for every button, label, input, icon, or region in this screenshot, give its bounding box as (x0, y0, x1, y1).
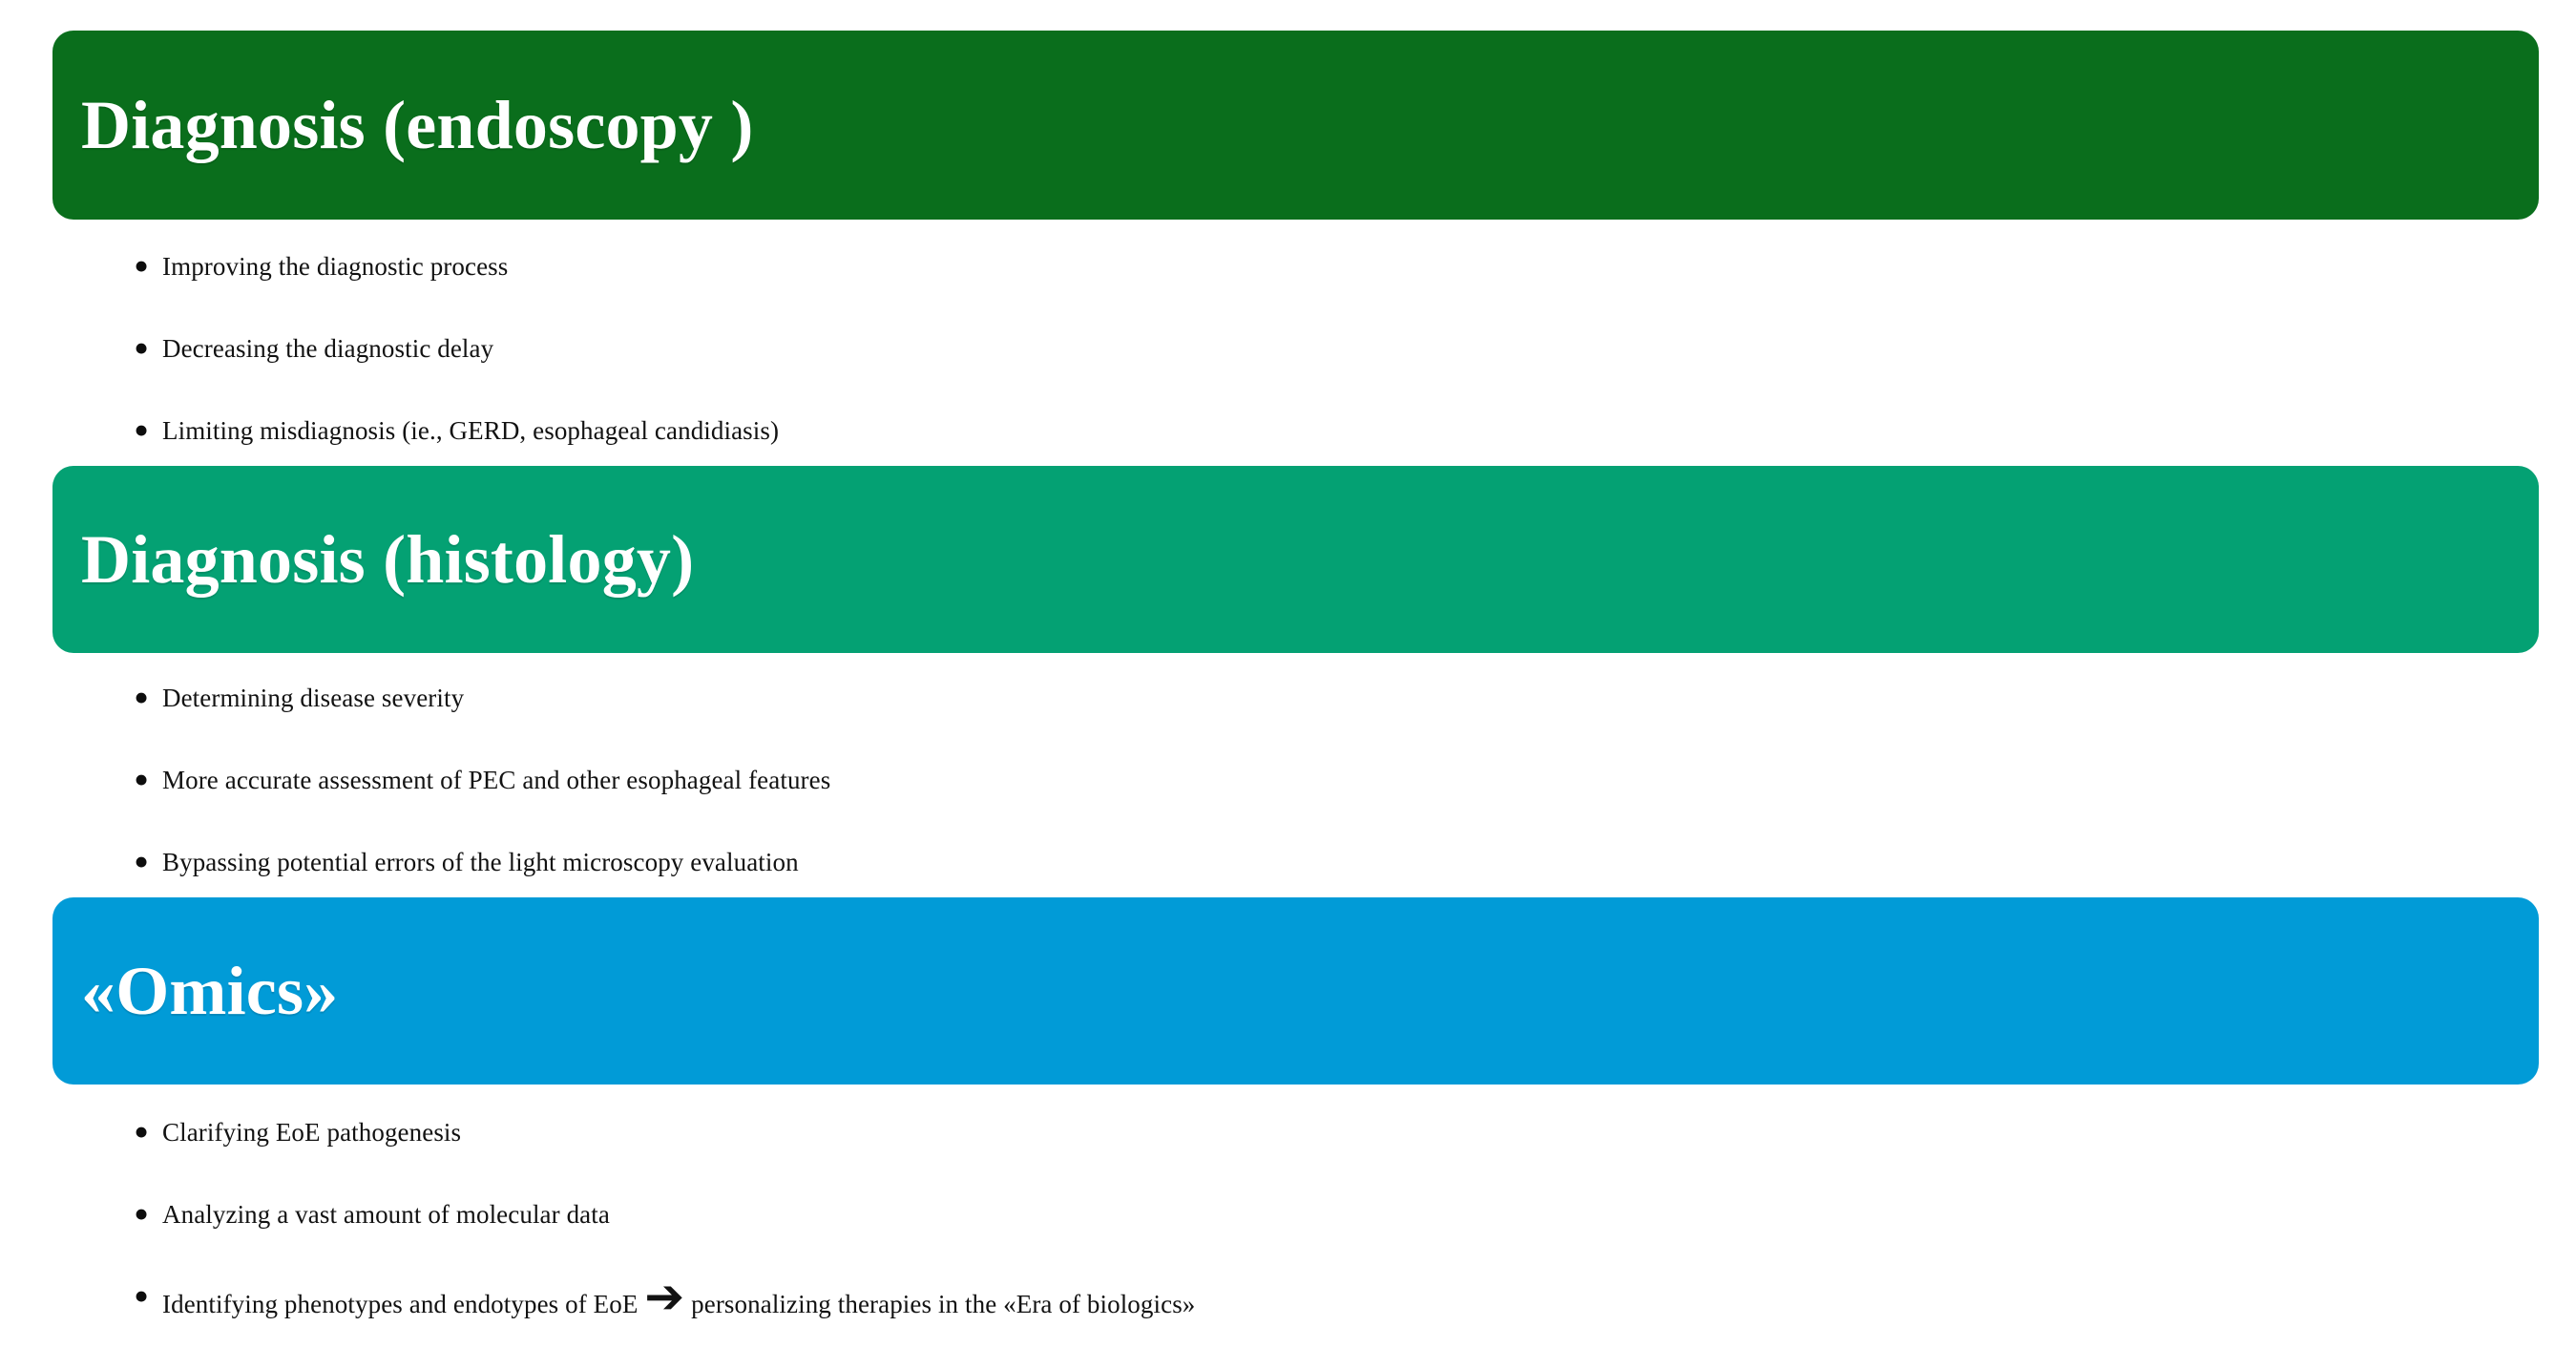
bullet-marker-icon: • (134, 1093, 162, 1171)
list-item-label: Decreasing the diagnostic delay (162, 309, 2576, 388)
section-header-omics-title: «Omics» (81, 957, 338, 1025)
list-item-label: Determining disease severity (162, 659, 2576, 737)
section-header-omics: «Omics» (52, 897, 2539, 1085)
list-item: • Clarifying EoE pathogenesis (0, 1093, 2576, 1175)
list-item-label: Bypassing potential errors of the light … (162, 823, 2576, 901)
bullet-list-histology: • Determining disease severity • More ac… (0, 659, 2576, 905)
bullet-marker-icon: • (134, 1257, 162, 1336)
list-item-label: Identifying phenotypes and endotypes of … (162, 1257, 2576, 1343)
list-item: • Identifying phenotypes and endotypes o… (0, 1257, 2576, 1339)
list-item: • Analyzing a vast amount of molecular d… (0, 1175, 2576, 1257)
list-item-label: Improving the diagnostic process (162, 227, 2576, 305)
bullet-marker-icon: • (134, 309, 162, 388)
bullet-marker-icon: • (134, 391, 162, 470)
bullet-list-endoscopy: • Improving the diagnostic process • Dec… (0, 227, 2576, 474)
section-header-endoscopy-title: Diagnosis (endoscopy ) (81, 91, 754, 159)
slide-canvas: Diagnosis (endoscopy ) • Improving the d… (0, 0, 2576, 1348)
bullet-marker-icon: • (134, 823, 162, 901)
list-item-label: Analyzing a vast amount of molecular dat… (162, 1175, 2576, 1253)
bullet-marker-icon: • (134, 741, 162, 819)
bullet-marker-icon: • (134, 1175, 162, 1253)
list-item: • Improving the diagnostic process (0, 227, 2576, 309)
list-item-label: Limiting misdiagnosis (ie., GERD, esopha… (162, 391, 2576, 470)
list-item: • Determining disease severity (0, 659, 2576, 741)
section-header-histology: Diagnosis (histology) (52, 466, 2539, 653)
bullet-marker-icon: • (134, 659, 162, 737)
section-header-histology-title: Diagnosis (histology) (81, 525, 694, 594)
list-item: • Limiting misdiagnosis (ie., GERD, esop… (0, 391, 2576, 474)
arrow-right-icon: ➔ (644, 1269, 684, 1324)
bullet-list-omics: • Clarifying EoE pathogenesis • Analyzin… (0, 1093, 2576, 1339)
list-item: • Bypassing potential errors of the ligh… (0, 823, 2576, 905)
list-item: • Decreasing the diagnostic delay (0, 309, 2576, 391)
list-item: • More accurate assessment of PEC and ot… (0, 741, 2576, 823)
list-item-label: Clarifying EoE pathogenesis (162, 1093, 2576, 1171)
section-header-endoscopy: Diagnosis (endoscopy ) (52, 31, 2539, 220)
list-item-label: More accurate assessment of PEC and othe… (162, 741, 2576, 819)
bullet-marker-icon: • (134, 227, 162, 305)
